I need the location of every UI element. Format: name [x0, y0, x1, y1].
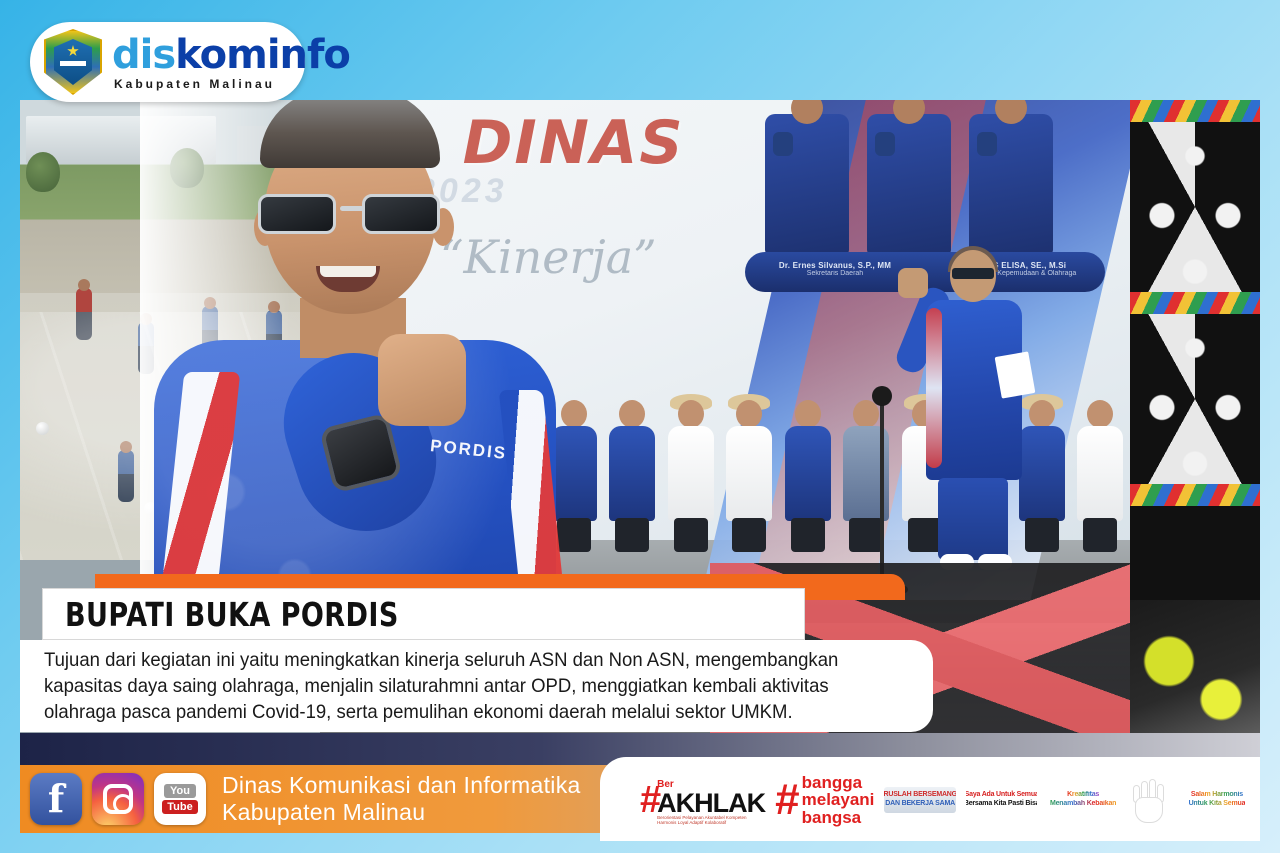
- footer-org-line1: Dinas Komunikasi dan Informatika: [222, 772, 581, 799]
- backdrop-portrait: [867, 114, 951, 254]
- dayak-pattern-panel: [1130, 100, 1260, 600]
- tree: [26, 152, 60, 192]
- headline-box: BUPATI BUKA PORDIS: [42, 588, 805, 640]
- seated-audience: [545, 340, 1185, 550]
- slogan-line2: Menambah Kebaikan: [1050, 800, 1116, 809]
- ball: [36, 422, 49, 435]
- official-title: Sekretaris Daerah: [807, 270, 863, 277]
- audience-member: [1071, 400, 1126, 550]
- audience-member: [837, 400, 892, 550]
- microphone: [872, 386, 892, 406]
- campaign-badges: # Ber AKHLAK Berorientasi Pelayanan Akun…: [640, 770, 1255, 830]
- slogan-badge-saya-ada: Saya Ada Untuk Semua Bersama Kita Pasti …: [966, 787, 1037, 813]
- slogan-badge-salam-harmonis: Salam Harmonis Untuk Kita Semua: [1179, 787, 1255, 813]
- bangga-line2: melayani: [802, 791, 875, 808]
- bangga-melayani-bangsa-badge: # bangga melayani bangsa: [775, 774, 874, 826]
- facebook-icon[interactable]: f: [30, 773, 82, 825]
- facebook-glyph: f: [48, 780, 64, 818]
- slogan-line1: Salam Harmonis: [1191, 791, 1243, 800]
- audience-member: [779, 400, 834, 550]
- bangga-line1: bangga: [802, 774, 875, 791]
- audience-member: [662, 400, 717, 550]
- caption-body: Tujuan dari kegiatan ini yaitu meningkat…: [44, 648, 860, 726]
- crest-icon: [42, 27, 104, 97]
- bangga-line3: bangsa: [802, 809, 875, 826]
- berakhlak-badge: # Ber AKHLAK Berorientasi Pelayanan Akun…: [640, 774, 765, 826]
- field-player: [118, 450, 134, 502]
- logo-word-dis: dis: [112, 32, 175, 78]
- audience-member: [720, 400, 775, 550]
- slogan-line1: Saya Ada Untuk Semua: [966, 791, 1037, 800]
- slogan-line2: DAN BEKERJA SAMA: [885, 800, 955, 809]
- instagram-icon[interactable]: [92, 773, 144, 825]
- logo-word-kominfo: kominfo: [175, 32, 350, 78]
- stage-speaker: [920, 250, 1030, 580]
- youtube-icon[interactable]: You Tube: [154, 773, 206, 825]
- youtube-glyph-bottom: Tube: [162, 800, 197, 814]
- microphone-stand: [880, 400, 884, 590]
- poster-frame: GA DINAS 2023 “Kinerja” Dr. Ernes Silvan…: [0, 0, 1280, 853]
- footer-social-group: f You Tube Dinas Komunikasi dan Informat…: [30, 770, 581, 828]
- instagram-glyph: [103, 784, 133, 814]
- slogan-line1: Kreatifitas: [1067, 791, 1099, 800]
- caption-box: Tujuan dari kegiatan ini yaitu meningkat…: [20, 640, 933, 732]
- sunglasses: [258, 190, 444, 236]
- backdrop-portraits: [765, 104, 1065, 254]
- slogan-badge-semangat: TERUSLAH BERSEMANGAT DAN BEKERJA SAMA: [884, 787, 955, 813]
- official-name: Dr. Ernes Silvanus, S.P., MM: [745, 261, 925, 270]
- dayak-pattern-lower: [1130, 600, 1260, 753]
- youtube-glyph-top: You: [164, 784, 196, 798]
- backdrop-portrait: [765, 114, 849, 254]
- audience-member: [603, 400, 658, 550]
- akhlak-main: AKHLAK: [657, 792, 765, 815]
- akhlak-values: Berorientasi Pelayanan Akuntabel Kompete…: [657, 815, 753, 826]
- logo-subtitle: Kabupaten Malinau: [114, 78, 350, 90]
- slogan-line2: Bersama Kita Pasti Bisa: [966, 800, 1037, 809]
- backdrop-portrait: [969, 114, 1053, 254]
- hash-glyph: #: [775, 784, 799, 816]
- diskominfo-logo: diskominfo Kabupaten Malinau: [30, 22, 305, 102]
- slogan-badge-kreatifitas: Kreatifitas Menambah Kebaikan: [1047, 787, 1118, 813]
- logo-wordmark: diskominfo Kabupaten Malinau: [112, 35, 350, 90]
- slogan-line2: Untuk Kita Semua: [1189, 800, 1246, 809]
- waving-hand-icon: [1129, 777, 1169, 823]
- footer-org-line2: Kabupaten Malinau: [222, 799, 581, 826]
- footer-org-name: Dinas Komunikasi dan Informatika Kabupat…: [222, 772, 581, 826]
- slogan-line1: TERUSLAH BERSEMANGAT: [884, 791, 955, 800]
- page-title: BUPATI BUKA PORDIS: [65, 595, 399, 634]
- field-player: [76, 288, 92, 340]
